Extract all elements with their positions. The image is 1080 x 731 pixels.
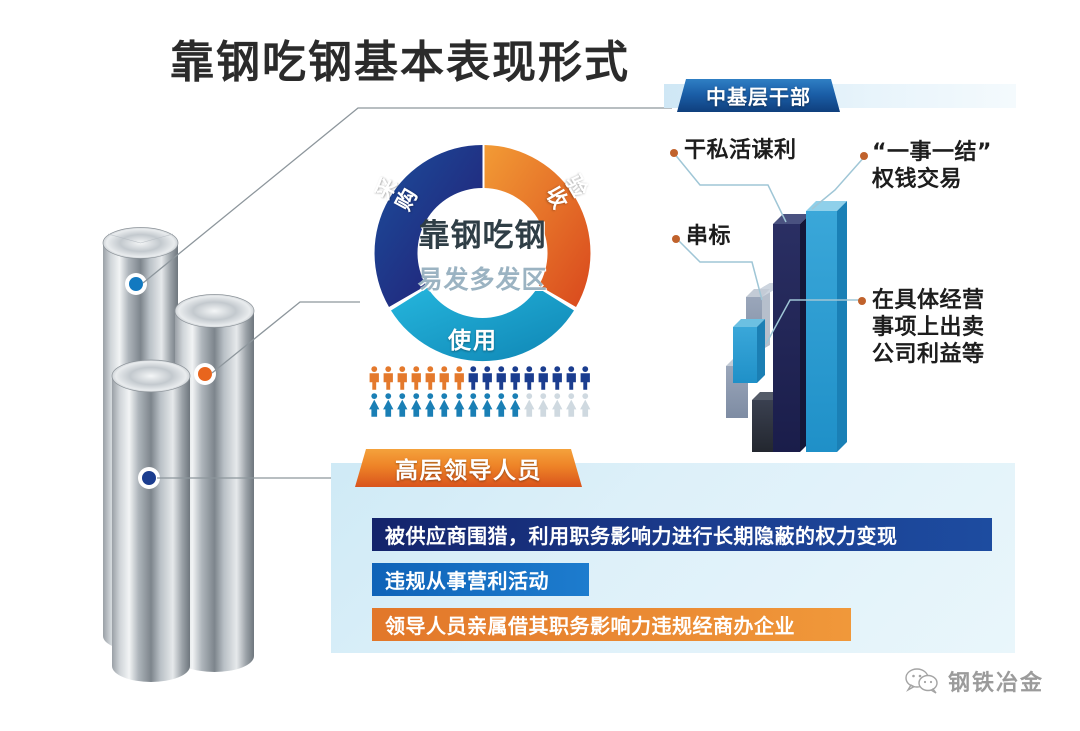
person-female-icon	[579, 393, 592, 417]
person-male-icon	[565, 366, 578, 390]
senior-leader-item-1: 违规从事营利活动	[372, 563, 589, 596]
person-male-icon	[453, 366, 466, 390]
person-female-icon	[467, 393, 480, 417]
person-female-icon	[410, 393, 423, 417]
person-female-icon	[396, 393, 409, 417]
people-pictogram	[368, 366, 600, 418]
callout-label-jingying: 在具体经营 事项上出卖 公司利益等	[872, 288, 985, 368]
mid-level-banner: 中基层干部	[677, 79, 840, 112]
person-male-icon	[396, 366, 409, 390]
person-female-icon	[551, 393, 564, 417]
senior-leader-item-1-label: 违规从事营利活动	[385, 565, 549, 594]
donut-label-shiyong: 使用	[448, 321, 498, 355]
wechat-icon	[905, 668, 939, 694]
callout-label-chuanbiao: 串标	[686, 224, 731, 251]
person-female-icon	[565, 393, 578, 417]
senior-leader-item-2-label: 领导人员亲属借其职务影响力违规经商办企业	[385, 610, 795, 639]
person-male-icon	[537, 366, 550, 390]
callout-label-ganshi: 干私活谋利	[684, 138, 797, 165]
watermark: 钢铁冶金	[905, 665, 1044, 697]
callout-dot-jingying	[858, 297, 866, 305]
person-female-icon	[509, 393, 522, 417]
callout-dot-ganshi	[670, 149, 678, 157]
people-row-female	[368, 393, 600, 417]
person-male-icon	[481, 366, 494, 390]
person-male-icon	[382, 366, 395, 390]
person-male-icon	[551, 366, 564, 390]
callout-label-yishi: “一事一结” 权钱交易	[872, 140, 992, 194]
person-male-icon	[410, 366, 423, 390]
person-male-icon	[424, 366, 437, 390]
senior-leader-item-0-label: 被供应商围猎，利用职务影响力进行长期隐蔽的权力变现	[385, 520, 898, 549]
bar-chart-3d	[726, 201, 847, 452]
senior-leader-item-2: 领导人员亲属借其职务影响力违规经商办企业	[372, 608, 851, 641]
senior-leader-banner-label: 高层领导人员	[395, 451, 542, 485]
senior-leader-banner: 高层领导人员	[355, 449, 582, 487]
person-female-icon	[424, 393, 437, 417]
person-female-icon	[495, 393, 508, 417]
person-male-icon	[495, 366, 508, 390]
person-male-icon	[579, 366, 592, 390]
infographic-canvas: 靠钢吃钢基本表现形式	[0, 0, 1080, 731]
callout-dot-yishi	[860, 152, 868, 160]
person-male-icon	[368, 366, 381, 390]
person-female-icon	[523, 393, 536, 417]
person-male-icon	[509, 366, 522, 390]
person-female-icon	[382, 393, 395, 417]
watermark-text: 钢铁冶金	[948, 665, 1044, 697]
person-female-icon	[453, 393, 466, 417]
person-male-icon	[523, 366, 536, 390]
callout-dot-chuanbiao	[672, 235, 680, 243]
people-row-male	[368, 366, 600, 390]
person-female-icon	[438, 393, 451, 417]
person-female-icon	[481, 393, 494, 417]
person-male-icon	[467, 366, 480, 390]
person-female-icon	[537, 393, 550, 417]
mid-level-banner-label: 中基层干部	[706, 81, 811, 110]
donut-segment-caigou	[375, 145, 483, 307]
cylinder-front	[112, 360, 190, 682]
senior-leader-item-0: 被供应商围猎，利用职务影响力进行长期隐蔽的权力变现	[372, 518, 992, 551]
person-female-icon	[368, 393, 381, 417]
person-male-icon	[438, 366, 451, 390]
